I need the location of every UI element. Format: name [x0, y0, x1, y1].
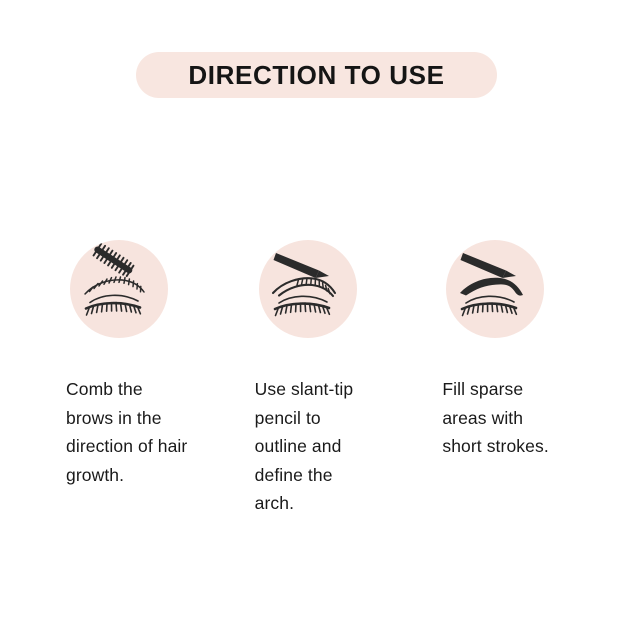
lash-line: [275, 304, 329, 309]
step-2-icon-circle: [259, 240, 357, 338]
step-2-caption: Use slant-tip pencil to outline and defi…: [255, 375, 445, 518]
brow-filled: [460, 278, 523, 296]
lash-line: [86, 303, 140, 308]
step-1-caption: Comb the brows in the direction of hair …: [66, 375, 256, 489]
step-3-caption: Fill sparse areas with short strokes.: [442, 375, 630, 461]
slant-pencil-outline-brow-icon: [259, 240, 357, 338]
step-1: Comb the brows in the direction of hair …: [66, 240, 254, 338]
eyelid-curve: [466, 296, 514, 303]
steps-row: Comb the brows in the direction of hair …: [0, 240, 630, 338]
brow-hair-strokes: [85, 277, 144, 294]
eyelid-curve: [90, 295, 138, 302]
slant-tip-pencil-glyph: [273, 253, 329, 278]
step-3: Fill sparse areas with short strokes.: [442, 240, 630, 338]
spoolie-brush-over-brow-icon: [70, 240, 168, 338]
infographic-page: DIRECTION TO USE: [0, 0, 630, 630]
lash-line: [462, 304, 516, 309]
step-3-icon-circle: [446, 240, 544, 338]
slant-pencil-filled-brow-icon: [446, 240, 544, 338]
title-pill: DIRECTION TO USE: [136, 52, 497, 98]
spoolie-brush-glyph: [91, 242, 136, 278]
page-title: DIRECTION TO USE: [188, 62, 444, 88]
step-2: Use slant-tip pencil to outline and defi…: [255, 240, 443, 338]
step-1-icon-circle: [70, 240, 168, 338]
eyelid-curve: [279, 296, 327, 303]
slant-tip-pencil-glyph: [461, 253, 517, 278]
